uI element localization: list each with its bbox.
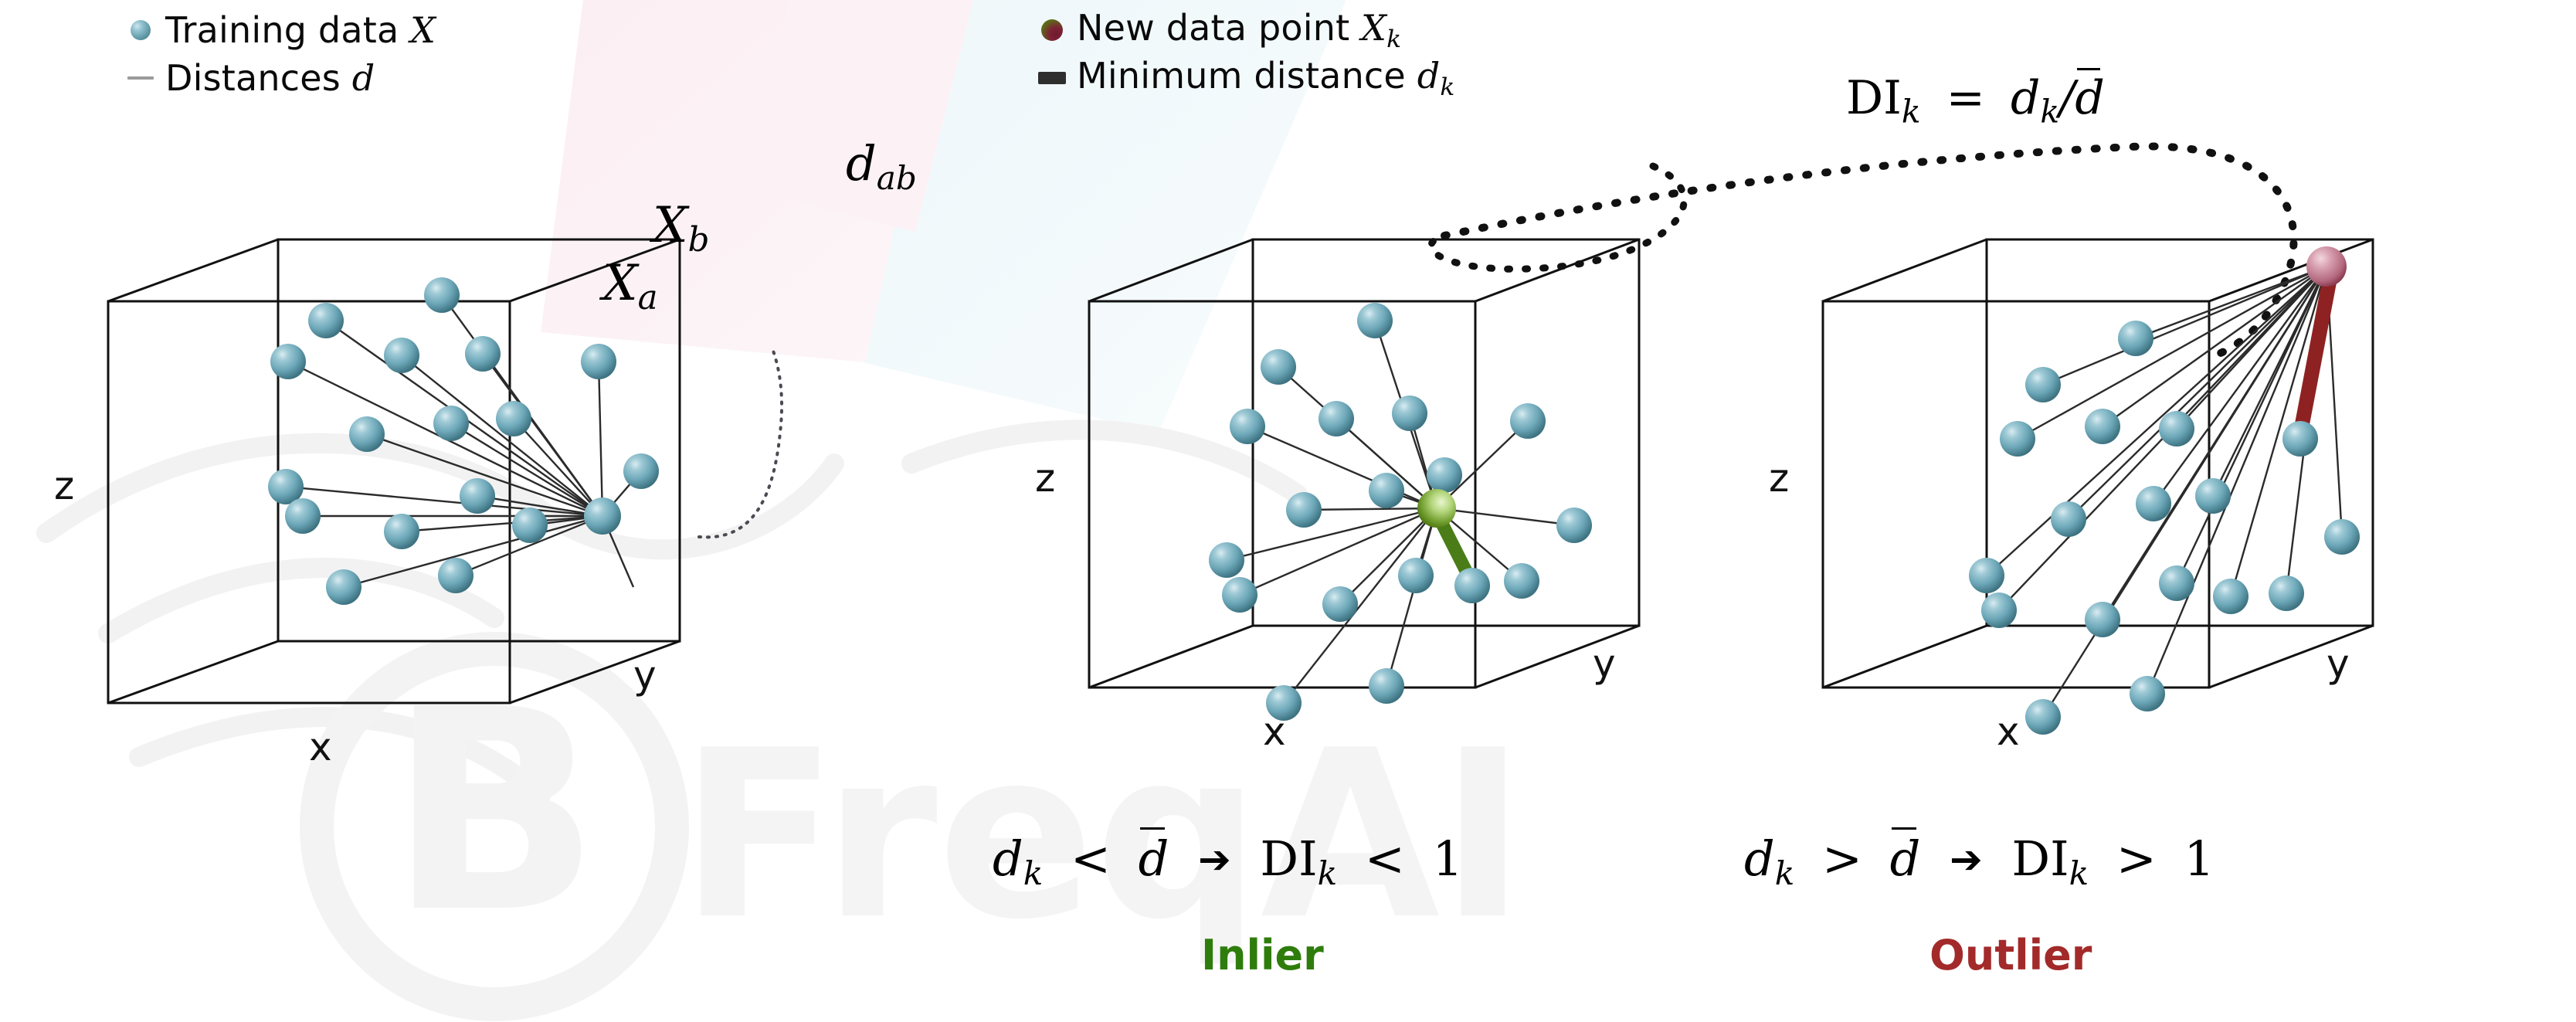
leader-label-dab: dab [846,135,917,197]
di-formula-equals: = [1946,71,1985,125]
new-point-marker-icon [1027,19,1077,41]
point-label-xa: Xa [602,255,658,317]
caption-formula-inlier: dk < d ➔ DIk < 1 [993,830,1463,892]
verdict-label-outlier: Outlier [1929,931,2092,980]
axis-label-x-inlier: x [1263,709,1286,754]
di-formula-denominator-dbar: d [2075,71,2104,125]
diagram-stage: B FreqAI Training data X Distances d New… [0,0,2576,1022]
legend-item-distances: Distances d [116,54,436,102]
training-cube-svg [93,224,819,796]
legend-item-minimum-distance: Minimum distance dk [1027,54,1455,102]
outlier-cube-svg [1807,224,2487,796]
legend-label-new-data-point: New data point Xk [1077,7,1401,53]
legend-column-right: New data point Xk Minimum distance dk [1027,6,1455,102]
axis-label-y-inlier: y [1593,641,1616,686]
di-formula-numerator: d [2011,71,2040,125]
caption-formula-outlier: dk > d ➔ DIk > 1 [1744,830,2215,892]
training-points [1209,303,1592,721]
panel-outlier-cube: z x y [1807,224,2487,796]
axis-label-z-training: z [54,463,74,508]
legend: Training data X Distances d New data poi… [0,0,2576,124]
legend-item-new-data-point: New data point Xk [1027,6,1455,54]
inlier-cube-svg [1074,224,1753,796]
point-label-xb: Xb [653,197,709,260]
axis-label-y-training: y [633,653,657,698]
verdict-label-inlier: Inlier [1201,931,1324,980]
di-formula-lhs-sub: k [1902,93,1921,130]
axis-label-x-training: x [309,725,332,769]
axis-label-z-inlier: z [1035,456,1055,501]
legend-item-training-data: Training data X [116,6,436,54]
axis-label-y-outlier: y [2327,641,2350,686]
legend-label-minimum-distance: Minimum distance dk [1077,55,1455,101]
cube-edges [108,239,680,703]
legend-label-distances: Distances d [165,57,375,99]
di-formula: DIk = dk/d [1846,71,2105,130]
panel-training-cube: z x y [93,224,819,796]
axis-label-x-outlier: x [1997,709,2020,754]
di-formula-slash: / [2059,71,2075,125]
hub-point-xa [584,497,621,535]
legend-label-training-data: Training data X [165,9,436,51]
di-formula-lhs: DI [1846,71,1902,125]
distance-lines [286,295,641,587]
panel-inlier-cube: z x y [1074,224,1753,796]
thin-dash-marker-icon [116,76,165,80]
new-data-point-inlier [1417,489,1456,528]
di-formula-numerator-sub: k [2040,93,2059,130]
training-point-marker-icon [116,20,165,40]
axis-label-z-outlier: z [1769,456,1789,501]
legend-column-left: Training data X Distances d [116,6,436,102]
new-data-point-outlier [2306,246,2347,287]
thick-dash-marker-icon [1027,72,1077,84]
